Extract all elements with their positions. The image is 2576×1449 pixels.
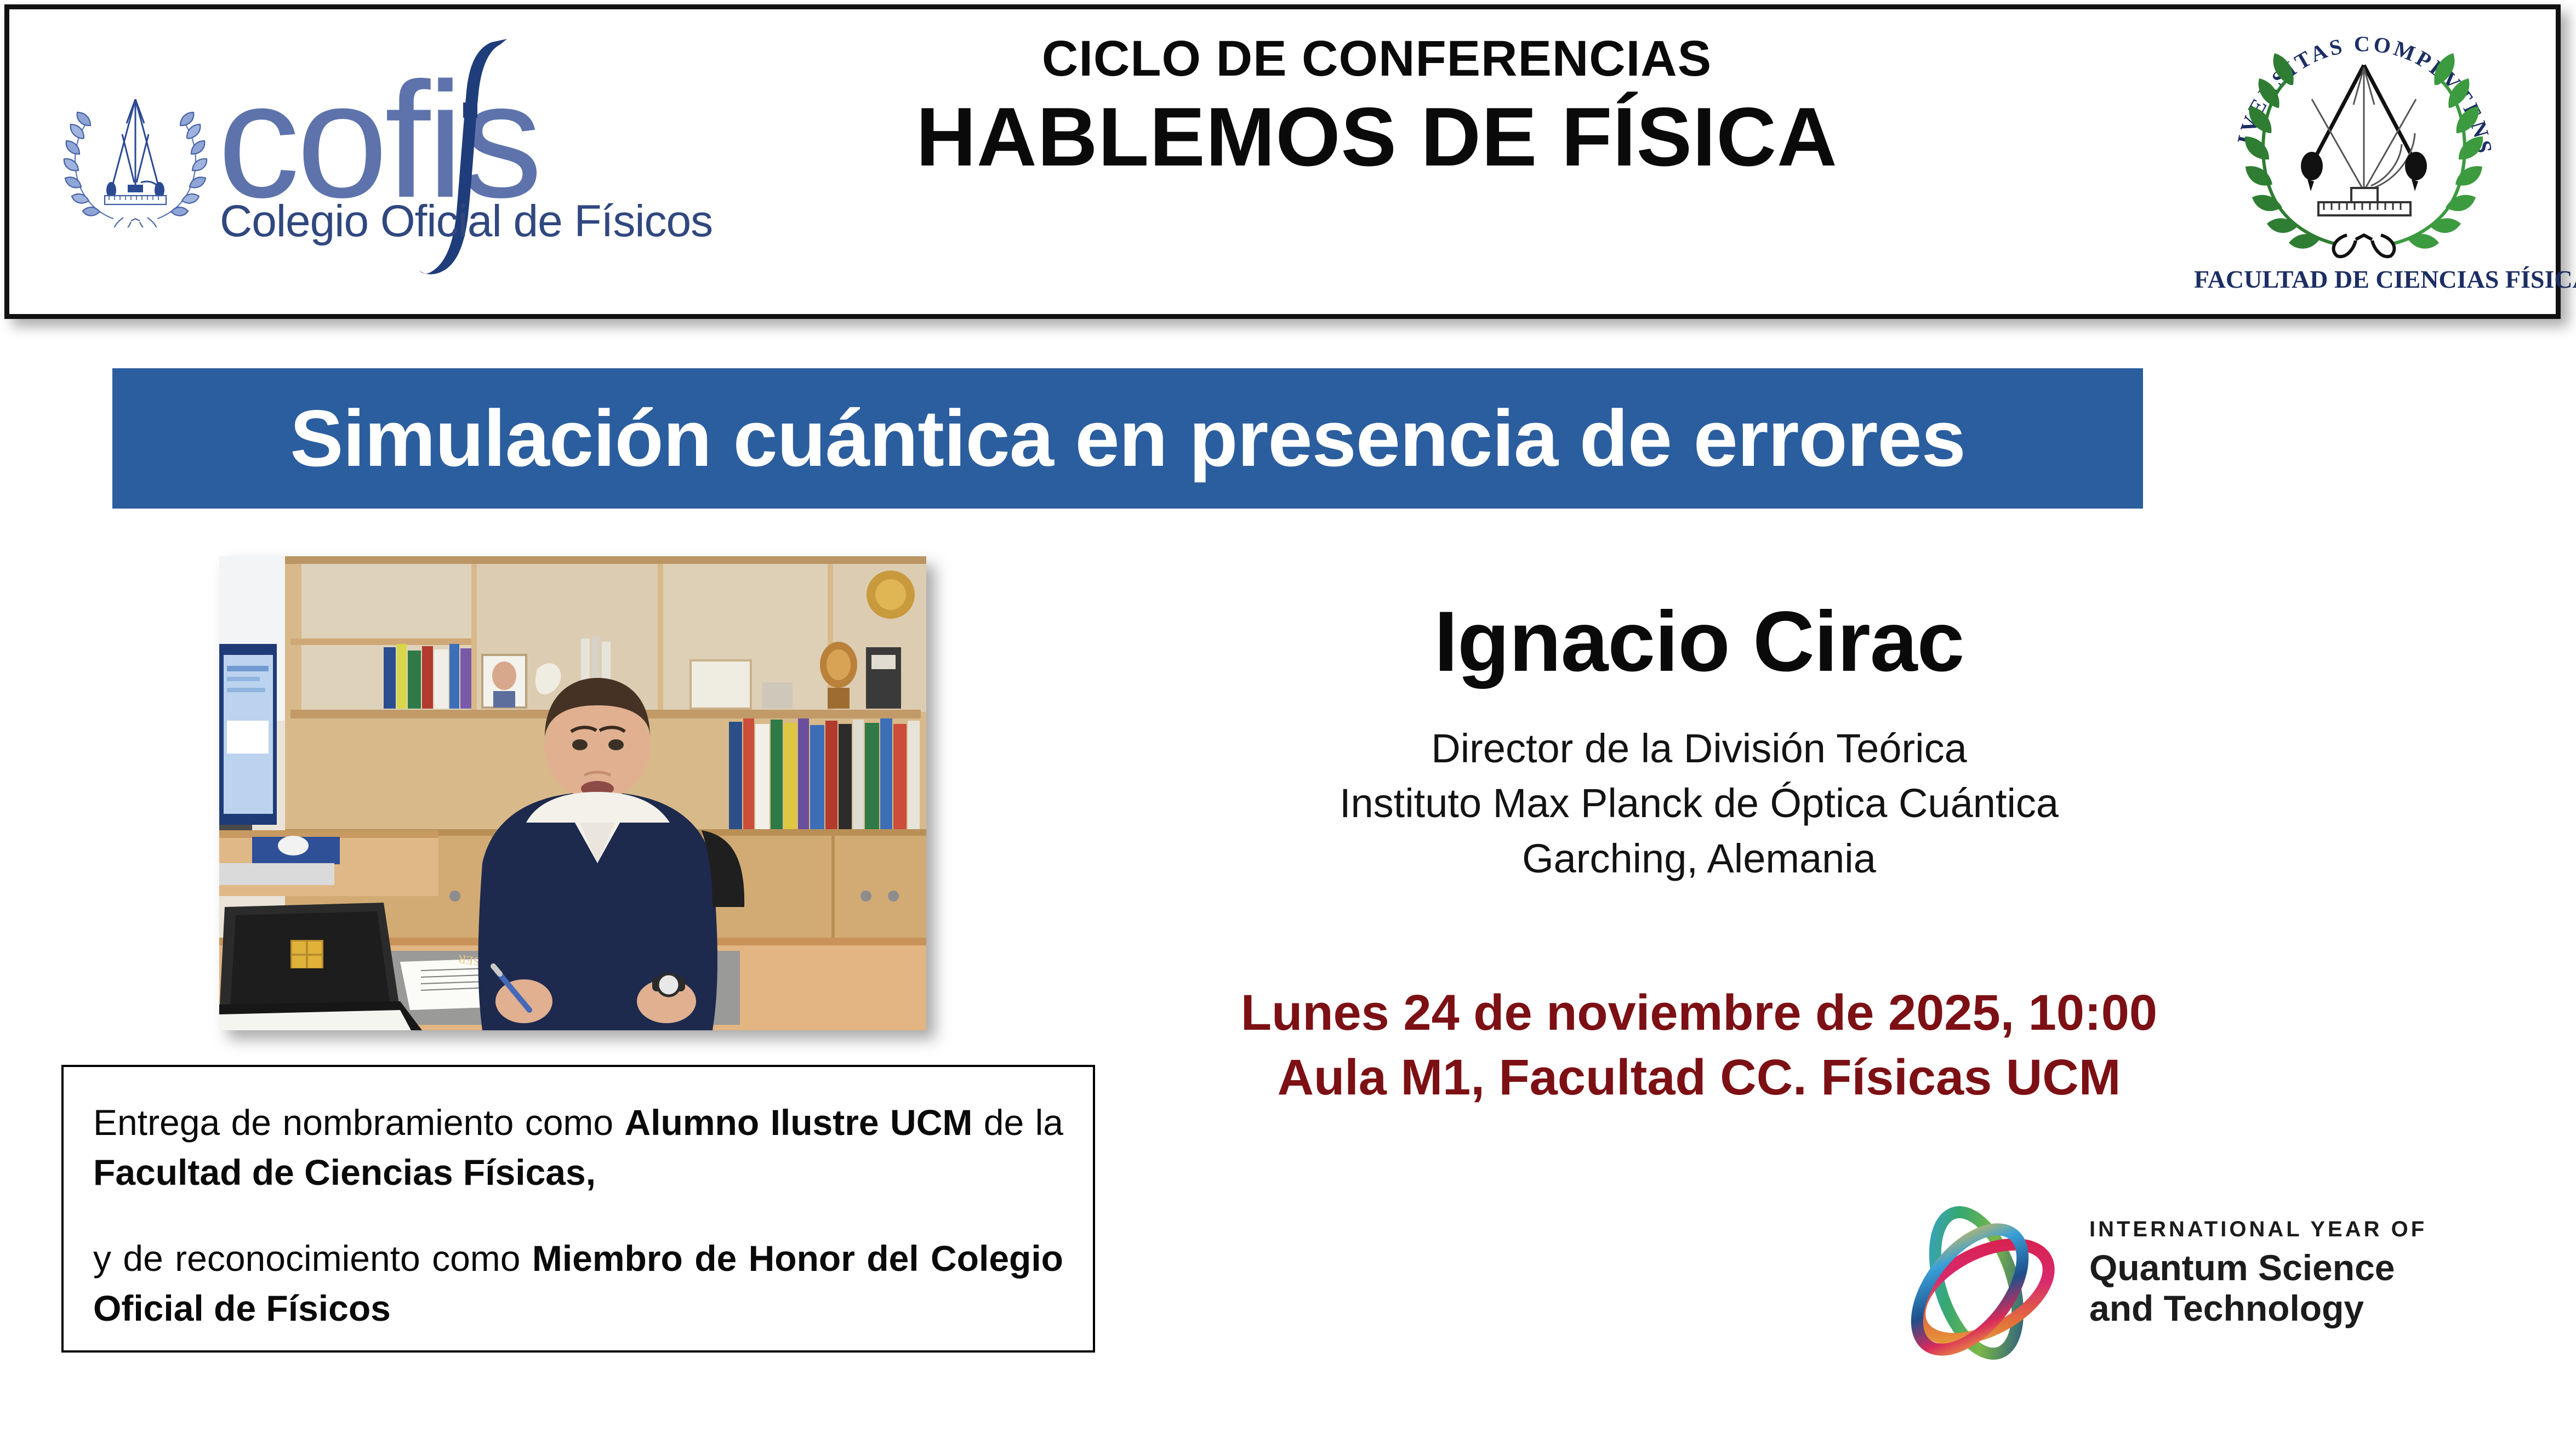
talk-title-banner: Simulación cuántica en presencia de erro…: [112, 368, 2143, 509]
header-frame: cofis Colegio Oficial de Físicos CICLO D…: [4, 4, 2561, 319]
ucm-laurel-pendulum-seal-icon: VNIVERSITAS COMPLVTENSIS: [2224, 17, 2504, 264]
event-details: Lunes 24 de noviembre de 2025, 10:00 Aul…: [1140, 981, 2258, 1110]
event-date-time: Lunes 24 de noviembre de 2025, 10:00: [1140, 981, 2258, 1046]
award-text-box: Entrega de nombramiento como Alumno Ilus…: [61, 1065, 1095, 1353]
affiliation-line-2: Instituto Max Planck de Óptica Cuántica: [1162, 776, 2236, 831]
series-kicker: CICLO DE CONFERENCIAS: [623, 31, 2130, 87]
iyq-logo: INTERNATIONAL YEAR OF Quantum Science an…: [1896, 1197, 2401, 1373]
iyq-line-2: Quantum Science: [2089, 1248, 2396, 1288]
series-title: HABLEMOS DE FÍSICA: [623, 93, 2130, 181]
iyq-line-1: INTERNATIONAL YEAR OF: [2089, 1218, 2396, 1240]
cofis-laurel-compass-emblem-icon: [59, 85, 212, 227]
affiliation-line-3: Garching, Alemania: [1162, 831, 2236, 887]
cofis-logo: cofis Colegio Oficial de Físicos: [42, 25, 596, 282]
speaker-name: Ignacio Cirac: [1162, 597, 2236, 687]
speaker-affiliation: Director de la División Teórica Institut…: [1162, 721, 2236, 887]
ucm-seal: VNIVERSITAS COMPLVTENSIS: [2194, 17, 2534, 316]
award-paragraph-1: Entrega de nombramiento como Alumno Ilus…: [93, 1098, 1063, 1197]
ucm-seal-caption: FACULTAD DE CIENCIAS FÍSICAS: [2194, 265, 2534, 294]
event-venue: Aula M1, Facultad CC. Físicas UCM: [1140, 1046, 2258, 1110]
speaker-portrait-office-desk-image: MICHAEL SIPSER: [219, 556, 926, 1030]
cofis-wordmark-block: cofis Colegio Oficial de Físicos: [218, 47, 596, 266]
cofis-tagline: Colegio Oficial de Físicos: [220, 196, 713, 247]
speaker-block: Ignacio Cirac Director de la División Te…: [1162, 597, 2236, 887]
iyq-interlocking-rings-mark-icon: [1896, 1197, 2077, 1373]
speaker-photo: MICHAEL SIPSER: [219, 556, 926, 1030]
talk-title: Simulación cuántica en presencia de erro…: [290, 398, 1965, 478]
header-titles: CICLO DE CONFERENCIAS HABLEMOS DE FÍSICA: [623, 31, 2130, 181]
iyq-logo-text: INTERNATIONAL YEAR OF Quantum Science an…: [2089, 1218, 2396, 1329]
award-paragraph-2: y de reconocimiento como Miembro de Hono…: [93, 1234, 1063, 1333]
iyq-line-3: and Technology: [2089, 1288, 2396, 1329]
affiliation-line-1: Director de la División Teórica: [1162, 721, 2236, 777]
header-inner: cofis Colegio Oficial de Físicos CICLO D…: [9, 9, 2556, 314]
